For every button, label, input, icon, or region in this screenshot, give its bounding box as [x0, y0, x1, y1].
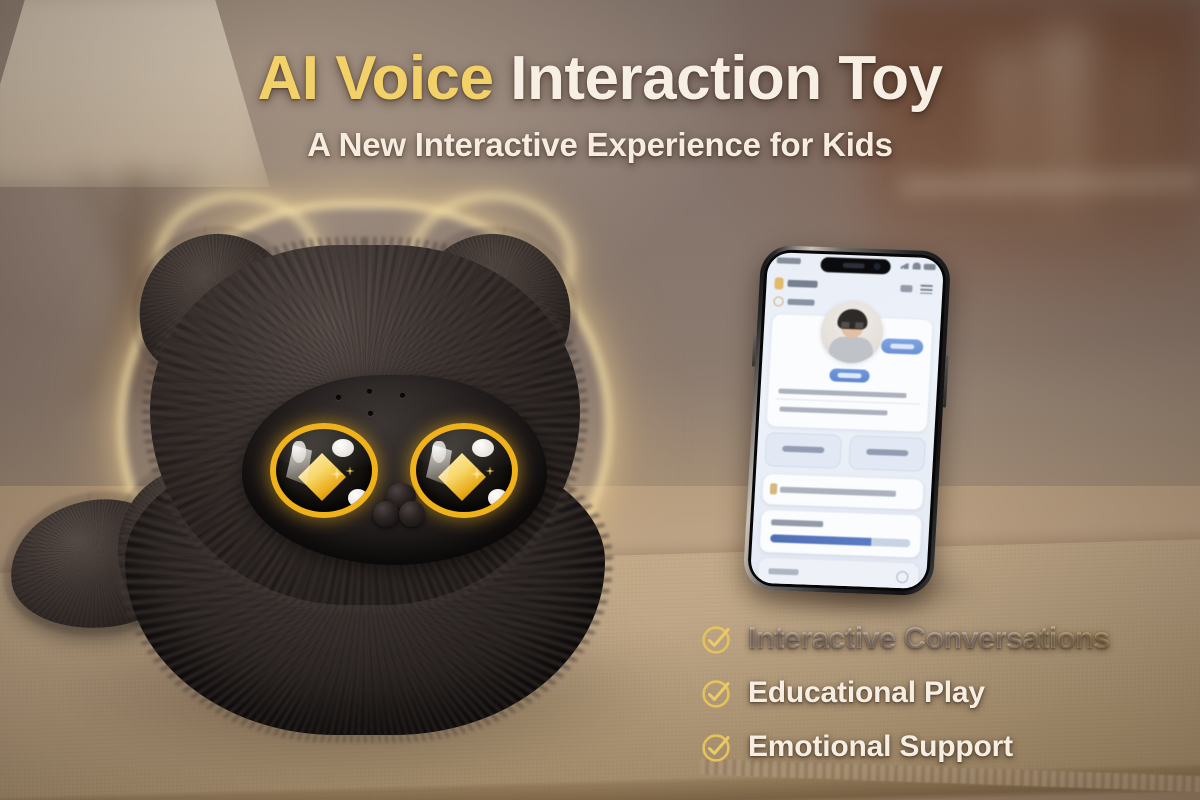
status-time [777, 257, 801, 264]
app-title [787, 280, 817, 288]
connect-button[interactable] [881, 338, 924, 355]
profile-card[interactable] [767, 314, 933, 432]
status-icons [901, 262, 936, 270]
check-circle-icon [700, 676, 734, 710]
footer-label [768, 568, 798, 575]
menu-icon[interactable] [920, 285, 932, 294]
list-item: Educational Play [700, 666, 1110, 720]
app-header-icon[interactable] [900, 285, 912, 292]
headline-block: AI Voice Interaction Toy A New Interacti… [0, 46, 1200, 164]
eye-gloss [270, 423, 378, 471]
dynamic-island [820, 257, 891, 275]
eye-left [270, 423, 378, 518]
profile-text-line [778, 388, 906, 398]
message-icon [770, 483, 778, 494]
action-button-secondary[interactable] [848, 435, 926, 472]
nose-icon [373, 483, 429, 529]
refresh-icon[interactable] [896, 571, 909, 583]
feature-label: Educational Play [748, 676, 985, 710]
wifi-icon [913, 262, 921, 269]
battery-icon [924, 263, 936, 269]
hero-banner: AI Voice Interaction Toy A New Interacti… [0, 0, 1200, 800]
app-header [774, 276, 935, 298]
product-toy [0, 200, 700, 670]
feature-list: Interactive Conversations Educational Pl… [700, 612, 1110, 774]
list-item: Emotional Support [700, 720, 1110, 774]
action-button-primary[interactable] [764, 432, 842, 469]
eye-gloss [410, 423, 518, 471]
mic-holes [334, 389, 444, 423]
eye-highlight [348, 489, 368, 507]
phone-screen[interactable] [750, 252, 944, 589]
check-circle-icon [700, 730, 734, 764]
progress-label [771, 519, 823, 527]
profile-name-badge [829, 368, 870, 382]
page-title: AI Voice Interaction Toy [0, 46, 1200, 112]
feature-label: Interactive Conversations [748, 622, 1110, 656]
status-dot-icon [773, 296, 784, 306]
message-text [780, 487, 896, 497]
headline-gold-text: AI Voice [257, 44, 493, 113]
signal-icon [901, 262, 910, 269]
app-subtitle [787, 299, 814, 306]
check-circle-icon [700, 622, 734, 656]
eye-highlight [488, 489, 508, 507]
progress-bar[interactable] [770, 534, 910, 547]
headline-white-text: Interaction Toy [494, 44, 943, 113]
avatar [819, 300, 884, 364]
list-item: Interactive Conversations [700, 612, 1110, 666]
feature-label: Emotional Support [748, 730, 1013, 764]
action-button-row [764, 432, 926, 472]
app-subheader [773, 295, 774, 308]
profile-text-line [779, 407, 887, 416]
smartphone-mockup [742, 245, 951, 596]
face-panel [242, 375, 547, 565]
page-subtitle: A New Interactive Experience for Kids [0, 126, 1200, 164]
message-card[interactable] [762, 474, 924, 510]
progress-card [760, 510, 922, 558]
app-logo-icon [774, 277, 784, 289]
